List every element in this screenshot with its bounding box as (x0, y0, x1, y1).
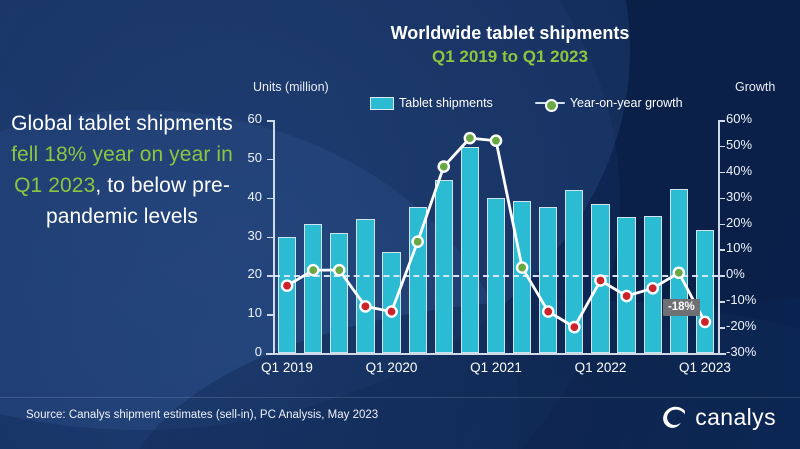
left-tick-label: 20 (222, 266, 262, 281)
right-tick-label: 20% (726, 215, 766, 230)
growth-marker-q1-2019 (282, 281, 292, 291)
growth-marker-q2-2020 (413, 237, 423, 247)
canalys-logo: canalys (660, 404, 776, 431)
source-note: Source: Canalys shipment estimates (sell… (26, 409, 378, 421)
growth-marker-q3-2021 (543, 306, 553, 316)
chart-legend: Tablet shipments Year-on-year growth (370, 96, 683, 110)
growth-marker-q2-2021 (517, 262, 527, 272)
left-tick (267, 198, 273, 200)
right-tick (719, 198, 725, 200)
headline-part1: Global tablet shipments (11, 112, 233, 135)
growth-marker-q1-2023 (700, 317, 710, 327)
left-tick-label: 0 (222, 344, 262, 359)
right-tick (719, 120, 725, 122)
right-axis-line (718, 120, 720, 354)
right-tick-label: 10% (726, 240, 766, 255)
canalys-swirl-icon (660, 404, 687, 431)
right-tick (719, 224, 725, 226)
left-tick-label: 60 (222, 111, 262, 126)
left-tick-label: 50 (222, 150, 262, 165)
left-tick (267, 314, 273, 316)
left-tick (267, 353, 273, 355)
growth-marker-q3-2022 (648, 283, 658, 293)
slide-canvas: Global tablet shipments fell 18% year on… (0, 0, 800, 449)
left-tick-label: 30 (222, 228, 262, 243)
growth-marker-q1-2021 (491, 136, 501, 146)
growth-line-path (287, 138, 705, 327)
right-tick (719, 353, 725, 355)
growth-line-series (274, 120, 718, 353)
left-tick (267, 237, 273, 239)
growth-marker-q4-2020 (465, 133, 475, 143)
line-marker-icon (535, 98, 565, 109)
growth-callout-badge: -18% (663, 299, 700, 316)
left-tick (267, 120, 273, 122)
right-tick-label: 40% (726, 163, 766, 178)
right-tick-label: 30% (726, 189, 766, 204)
left-tick (267, 275, 273, 277)
right-tick (719, 172, 725, 174)
x-tick-label: Q1 2019 (261, 360, 313, 375)
legend-label-bars: Tablet shipments (399, 96, 493, 110)
right-axis-caption: Growth (735, 80, 775, 94)
growth-marker-q1-2022 (595, 275, 605, 285)
chart-subtitle: Q1 2019 to Q1 2023 (300, 46, 720, 68)
right-tick-label: 60% (726, 111, 766, 126)
right-tick-label: 50% (726, 137, 766, 152)
chart-title: Worldwide tablet shipments (300, 22, 720, 45)
growth-marker-q2-2022 (621, 291, 631, 301)
x-tick-label: Q1 2023 (679, 360, 731, 375)
right-tick (719, 275, 725, 277)
canalys-wordmark: canalys (695, 404, 776, 431)
right-tick (719, 301, 725, 303)
left-axis-caption: Units (million) (253, 80, 329, 94)
right-tick-label: -10% (726, 292, 766, 307)
plot-area (274, 120, 718, 353)
x-axis-line (266, 353, 726, 355)
growth-marker-q3-2020 (439, 162, 449, 172)
x-tick-label: Q1 2022 (575, 360, 627, 375)
growth-marker-q4-2019 (360, 301, 370, 311)
left-tick-label: 10 (222, 305, 262, 320)
growth-marker-q3-2019 (334, 265, 344, 275)
left-tick-label: 40 (222, 189, 262, 204)
right-tick (719, 327, 725, 329)
right-tick-label: -20% (726, 318, 766, 333)
legend-item-bars[interactable]: Tablet shipments (370, 96, 493, 110)
right-tick (719, 146, 725, 148)
legend-label-line: Year-on-year growth (570, 96, 683, 110)
footer-divider (0, 397, 800, 398)
right-tick-label: 0% (726, 266, 766, 281)
x-tick-label: Q1 2021 (470, 360, 522, 375)
legend-item-line[interactable]: Year-on-year growth (535, 96, 683, 110)
right-tick (719, 249, 725, 251)
headline-text: Global tablet shipments fell 18% year on… (8, 108, 236, 232)
left-tick (267, 159, 273, 161)
right-tick-label: -30% (726, 344, 766, 359)
bar-swatch-icon (370, 97, 394, 110)
growth-marker-q4-2022 (674, 268, 684, 278)
growth-marker-q1-2020 (386, 306, 396, 316)
x-tick-label: Q1 2020 (366, 360, 418, 375)
growth-marker-q2-2019 (308, 265, 318, 275)
growth-marker-q4-2021 (569, 322, 579, 332)
